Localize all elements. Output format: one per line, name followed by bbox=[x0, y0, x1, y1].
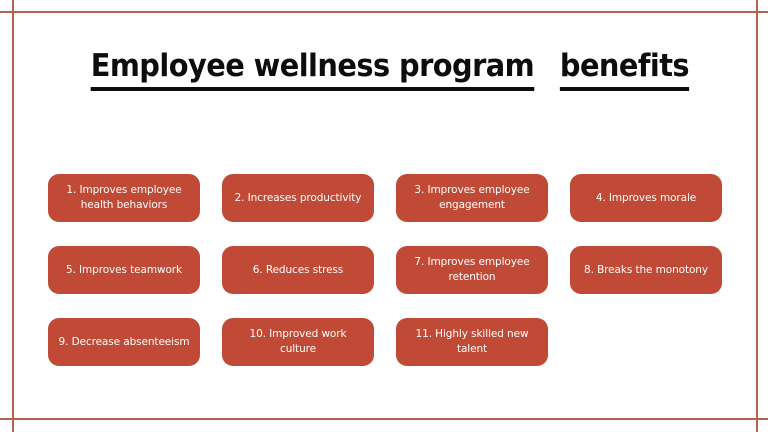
page-title: Employee wellness program benefits bbox=[0, 44, 768, 91]
benefit-card[interactable]: 11. Highly skilled new talent bbox=[396, 318, 548, 366]
benefit-card-label: 7. Improves employee retention bbox=[405, 255, 539, 285]
benefit-card-label: 5. Improves teamwork bbox=[66, 263, 182, 278]
benefit-card[interactable]: 4. Improves morale bbox=[570, 174, 722, 222]
benefit-card[interactable]: 2. Increases productivity bbox=[222, 174, 374, 222]
benefit-card-label: 2. Increases productivity bbox=[235, 191, 362, 206]
benefit-card-label: 11. Highly skilled new talent bbox=[405, 327, 539, 357]
benefit-card[interactable]: 3. Improves employee engagement bbox=[396, 174, 548, 222]
benefit-card-label: 10. Improved work culture bbox=[231, 327, 365, 357]
benefit-card[interactable]: 8. Breaks the monotony bbox=[570, 246, 722, 294]
benefit-card-label: 4. Improves morale bbox=[596, 191, 696, 206]
benefit-card-label: 3. Improves employee engagement bbox=[405, 183, 539, 213]
frame-rule-bottom bbox=[0, 418, 768, 420]
benefit-card-label: 8. Breaks the monotony bbox=[584, 263, 708, 278]
benefit-card[interactable]: 10. Improved work culture bbox=[222, 318, 374, 366]
slide-canvas: Employee wellness program benefits 1. Im… bbox=[0, 0, 768, 432]
page-title-line-2: benefits bbox=[560, 47, 689, 91]
benefit-card[interactable]: 1. Improves employee health behaviors bbox=[48, 174, 200, 222]
benefit-card[interactable]: 6. Reduces stress bbox=[222, 246, 374, 294]
benefit-card[interactable]: 5. Improves teamwork bbox=[48, 246, 200, 294]
page-title-line-1: Employee wellness program bbox=[91, 47, 534, 91]
benefit-card[interactable]: 7. Improves employee retention bbox=[396, 246, 548, 294]
benefit-card-label: 9. Decrease absenteeism bbox=[59, 335, 190, 350]
benefit-card-grid: 1. Improves employee health behaviors 2.… bbox=[48, 174, 722, 366]
benefit-card-label: 6. Reduces stress bbox=[253, 263, 343, 278]
benefit-card-label: 1. Improves employee health behaviors bbox=[57, 183, 191, 213]
benefit-card[interactable]: 9. Decrease absenteeism bbox=[48, 318, 200, 366]
frame-rule-top bbox=[0, 11, 768, 13]
